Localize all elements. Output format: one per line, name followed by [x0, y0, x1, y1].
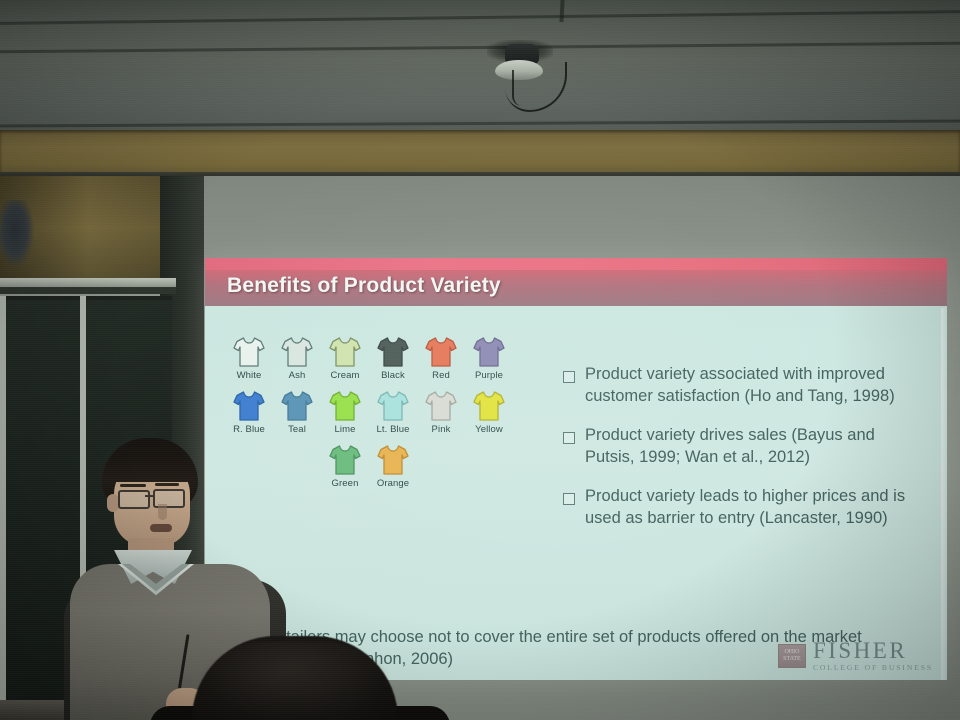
tshirt-swatch-purple: Purple	[465, 336, 513, 381]
tshirt-color-label: Lt. Blue	[369, 424, 417, 435]
tshirt-swatch-lime: Lime	[321, 390, 369, 435]
tshirt-icon	[328, 444, 362, 476]
tshirt-swatch-cream: Cream	[321, 336, 369, 381]
slide-bullet: Product variety leads to higher prices a…	[563, 486, 923, 530]
tshirt-color-label: Lime	[321, 424, 369, 435]
tshirt-color-label: R. Blue	[225, 424, 273, 435]
logo-wordmark: FISHER COLLEGE OF BUSINESS	[813, 639, 933, 672]
chalk-rail	[0, 278, 176, 287]
tshirt-icon	[232, 390, 266, 422]
slide-title: Benefits of Product Variety	[227, 274, 501, 298]
bullet-square-icon	[563, 432, 575, 444]
tshirt-icon	[472, 390, 506, 422]
tshirt-swatch-orange: Orange	[369, 444, 417, 489]
tshirt-color-label: Black	[369, 370, 417, 381]
presenter-eyebrow	[155, 483, 179, 486]
tshirt-swatch-yellow: Yellow	[465, 390, 513, 435]
presenter-nose	[158, 504, 167, 520]
tshirt-row: WhiteAshCreamBlackRedPurple	[225, 336, 515, 381]
tshirt-color-label: Yellow	[465, 424, 513, 435]
slide-bullet: Product variety associated with improved…	[563, 364, 923, 408]
tshirt-row: GreenOrange	[321, 444, 515, 489]
tshirt-color-label: Green	[321, 478, 369, 489]
logo-name: FISHER	[813, 639, 933, 662]
slide-body: WhiteAshCreamBlackRedPurpleR. BlueTealLi…	[205, 308, 947, 680]
presenter-hair-fringe	[106, 452, 194, 482]
tshirt-icon	[472, 336, 506, 368]
tshirt-icon	[376, 444, 410, 476]
ohio-state-mark-icon: OHIO STATE	[778, 644, 806, 668]
tshirt-icon	[280, 390, 314, 422]
tshirt-icon	[328, 390, 362, 422]
tshirt-swatch-r-blue: R. Blue	[225, 390, 273, 435]
tshirt-color-label: Red	[417, 370, 465, 381]
tshirt-color-label: Orange	[369, 478, 417, 489]
tshirt-color-label: Pink	[417, 424, 465, 435]
tshirt-icon	[424, 336, 458, 368]
slide-top-accent-strip	[205, 258, 947, 270]
glasses-bridge	[145, 495, 154, 497]
presenter-eyebrow	[120, 484, 146, 487]
bullet-text: Product variety leads to higher prices a…	[585, 486, 923, 530]
tshirt-color-label: Ash	[273, 370, 321, 381]
bullet-text: Product variety drives sales (Bayus and …	[585, 425, 923, 469]
tshirt-row: R. BlueTealLimeLt. BluePinkYellow	[225, 390, 515, 435]
tshirt-icon	[280, 336, 314, 368]
wall-wood-band	[0, 130, 960, 178]
presenter-mouth	[150, 524, 172, 532]
tshirt-swatch-green: Green	[321, 444, 369, 489]
slide-right-edge	[941, 308, 947, 680]
bullet-square-icon	[563, 371, 575, 383]
fisher-college-logo: OHIO STATE FISHER COLLEGE OF BUSINESS	[778, 639, 933, 672]
tshirt-icon	[328, 336, 362, 368]
tshirt-icon	[424, 390, 458, 422]
tshirt-icon	[376, 390, 410, 422]
tshirt-color-label: Purple	[465, 370, 513, 381]
logo-mark-text: OHIO STATE	[779, 649, 805, 662]
slide-bullet-list-right: Product variety associated with improved…	[563, 364, 923, 547]
tshirt-icon	[376, 336, 410, 368]
tshirt-icon	[232, 336, 266, 368]
tshirt-swatch-teal: Teal	[273, 390, 321, 435]
tshirt-swatch-black: Black	[369, 336, 417, 381]
tshirt-swatch-red: Red	[417, 336, 465, 381]
tshirt-swatch-white: White	[225, 336, 273, 381]
tshirt-color-label: Teal	[273, 424, 321, 435]
wall-object-silhouette	[0, 200, 34, 268]
slide-bullet: Product variety drives sales (Bayus and …	[563, 425, 923, 469]
tshirt-swatch-pink: Pink	[417, 390, 465, 435]
glasses-lens-left	[118, 490, 150, 509]
logo-subtitle: COLLEGE OF BUSINESS	[813, 664, 933, 672]
tshirt-color-label: Cream	[321, 370, 369, 381]
classroom-photo: Benefits of Product Variety WhiteAshCrea…	[0, 0, 960, 720]
chalk-rail-shadow	[0, 287, 176, 294]
projected-slide: Benefits of Product Variety WhiteAshCrea…	[205, 258, 947, 680]
tshirt-swatch-lt-blue: Lt. Blue	[369, 390, 417, 435]
bullet-square-icon	[563, 493, 575, 505]
bullet-text: Product variety associated with improved…	[585, 364, 923, 408]
projector-cable-secondary	[512, 70, 524, 106]
tshirt-color-label: White	[225, 370, 273, 381]
tshirt-swatch-ash: Ash	[273, 336, 321, 381]
